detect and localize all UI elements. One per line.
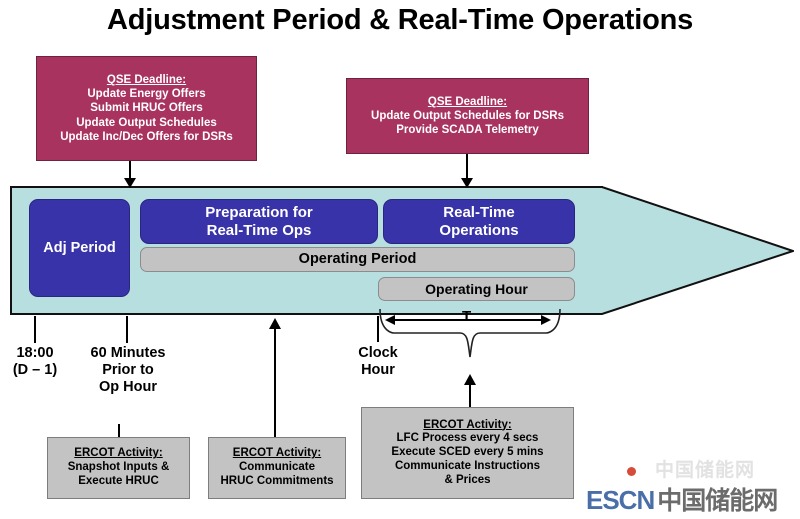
band-label: Operating Hour: [425, 281, 528, 297]
phase-label: Adj Period: [43, 240, 116, 257]
phase-preparation-rt-ops[interactable]: Preparation for Real-Time Ops: [140, 199, 378, 244]
band-operating-period[interactable]: Operating Period: [140, 247, 575, 272]
activity-line: HRUC Commitments: [220, 475, 333, 489]
callout-line: Provide SCADA Telemetry: [396, 123, 539, 137]
callout-1-leader-arrowhead: [123, 177, 137, 189]
activity-2-leader-line: [274, 325, 276, 440]
interval-brace: [376, 305, 566, 365]
activity-3-leader-arrowhead: [463, 374, 477, 386]
diagram-canvas: Adjustment Period & Real-Time Operations…: [0, 0, 800, 519]
callout-2-leader-arrowhead: [460, 177, 474, 189]
phase-label-line2: Operations: [439, 222, 518, 239]
page-title: Adjustment Period & Real-Time Operations: [0, 4, 800, 37]
activity-header: ERCOT Activity:: [74, 447, 162, 461]
activity-box-snapshot[interactable]: ERCOT Activity: Snapshot Inputs & Execut…: [47, 437, 190, 499]
activity-line: Execute SCED every 5 mins: [391, 446, 543, 460]
activity-2-leader-arrowhead: [268, 318, 282, 330]
activity-header: ERCOT Activity:: [233, 447, 321, 461]
marker-line2: Prior to: [68, 362, 188, 379]
marker-line2: (D – 1): [4, 362, 66, 379]
watermark: ESCN 中国储能网: [586, 481, 777, 517]
phase-label-line2: Real-Time Ops: [207, 222, 312, 239]
activity-line: & Prices: [444, 474, 490, 488]
callout-line: Update Output Schedules: [76, 116, 217, 130]
watermark-brand: ESCN: [586, 485, 654, 516]
marker-sixty-minutes: 60 Minutes Prior to Op Hour: [68, 345, 188, 396]
callout-line: Update Output Schedules for DSRs: [371, 109, 564, 123]
phase-label-line1: Preparation for: [205, 204, 313, 221]
activity-line: Snapshot Inputs &: [68, 461, 170, 475]
watermark-ghost-text: 中国储能网: [655, 455, 755, 482]
activity-header: ERCOT Activity:: [423, 419, 511, 433]
activity-box-realtime[interactable]: ERCOT Activity: LFC Process every 4 secs…: [361, 407, 574, 499]
phase-label-line1: Real-Time: [443, 204, 514, 221]
tick-start-1800: [34, 316, 36, 343]
marker-line1: 18:00: [4, 345, 66, 362]
callout-qse-deadline-2: QSE Deadline: Update Output Schedules fo…: [346, 78, 589, 154]
marker-line1: 60 Minutes: [68, 345, 188, 362]
phase-real-time-operations[interactable]: Real-Time Operations: [383, 199, 575, 244]
callout-line: Update Inc/Dec Offers for DSRs: [60, 130, 233, 144]
activity-line: Execute HRUC: [78, 475, 159, 489]
activity-line: Communicate Instructions: [395, 460, 540, 474]
activity-box-communicate[interactable]: ERCOT Activity: Communicate HRUC Commitm…: [208, 437, 346, 499]
marker-line3: Op Hour: [68, 379, 188, 396]
callout-header: QSE Deadline:: [428, 95, 507, 109]
callout-header: QSE Deadline:: [107, 73, 186, 87]
callout-line: Update Energy Offers: [87, 87, 205, 101]
activity-line: LFC Process every 4 secs: [397, 432, 539, 446]
tick-sixty-minutes: [126, 316, 128, 343]
callout-line: Submit HRUC Offers: [90, 101, 202, 115]
band-label: Operating Period: [299, 251, 417, 268]
watermark-brand-cn: 中国储能网: [657, 481, 777, 517]
phase-adj-period[interactable]: Adj Period: [29, 199, 130, 297]
callout-qse-deadline-1: QSE Deadline: Update Energy Offers Submi…: [36, 56, 257, 161]
band-operating-hour[interactable]: Operating Hour: [378, 277, 575, 301]
activity-line: Communicate: [239, 461, 315, 475]
marker-start-1800: 18:00 (D – 1): [4, 345, 66, 379]
watermark-dot-icon: [627, 467, 636, 476]
